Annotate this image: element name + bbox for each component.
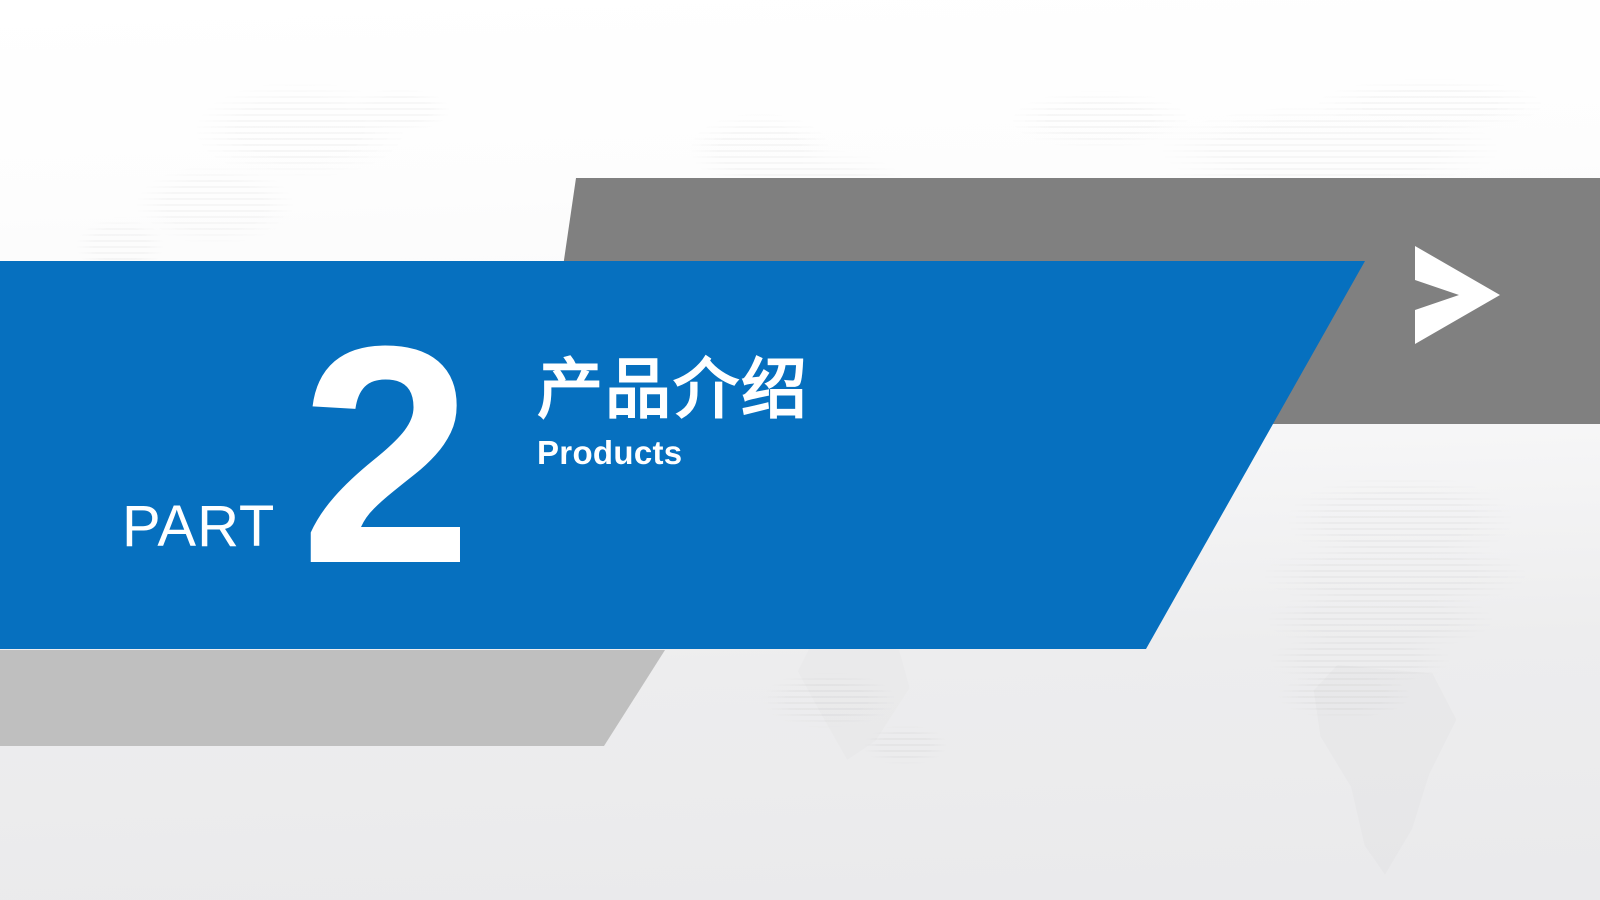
slide-canvas: PART 2 产品介绍 Products (0, 0, 1600, 900)
section-title-english: Products (537, 436, 1057, 469)
part-label: PART (122, 498, 275, 556)
section-title-group: 产品介绍 Products (537, 356, 1057, 469)
section-title-chinese: 产品介绍 (537, 356, 1057, 422)
chevron-right-icon (1404, 230, 1504, 360)
section-number: 2 (300, 300, 466, 610)
